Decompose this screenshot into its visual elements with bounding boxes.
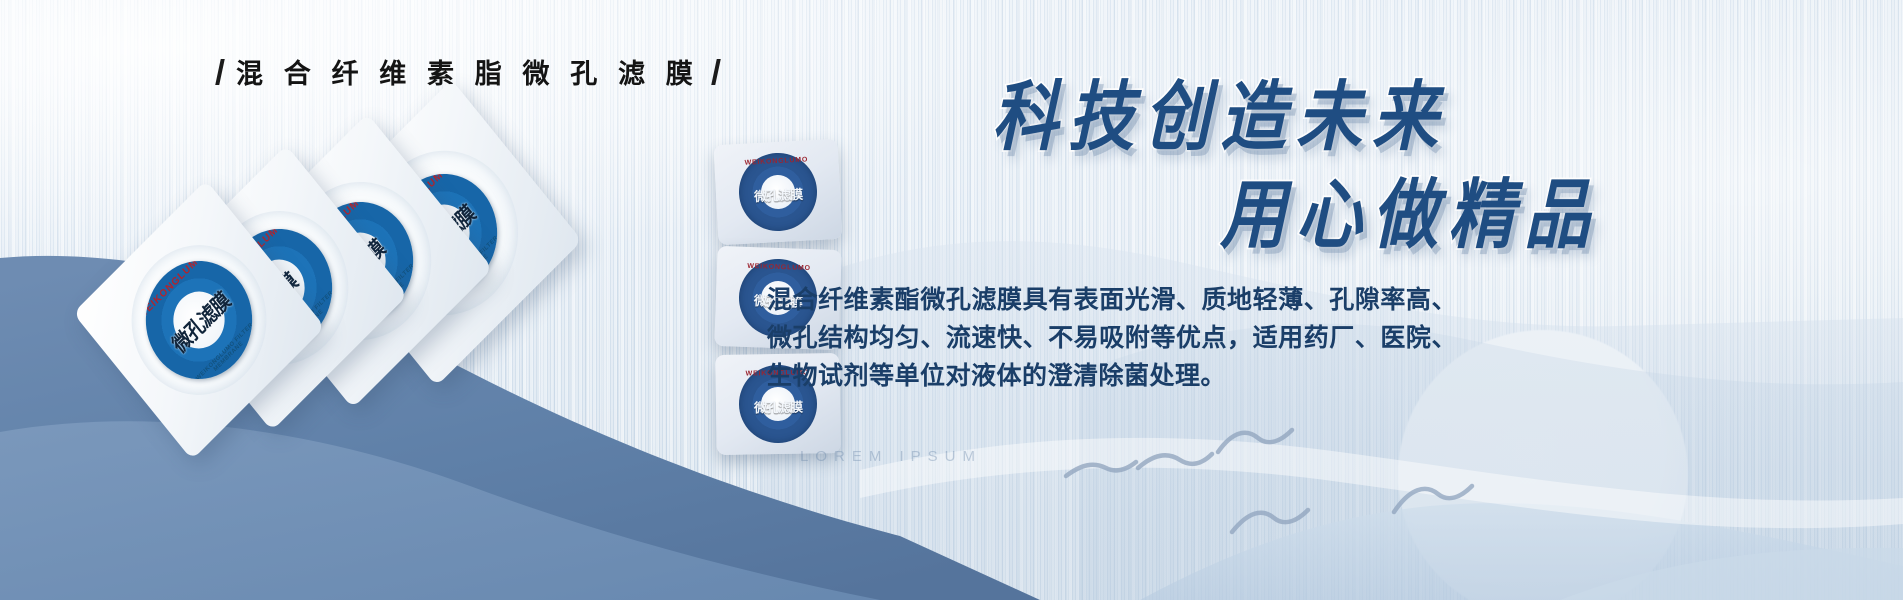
headline-block: 科技创造未来 用心做精品	[992, 86, 1448, 250]
headline-line-1: 科技创造未来	[992, 81, 1448, 157]
product-label: WEIKONGLUMO 微孔滤膜 WEIKONGLUMO FILTER MEMB…	[124, 237, 274, 404]
headline-line-2: 用心做精品	[992, 179, 1600, 255]
birds-decoration	[1060, 380, 1480, 560]
chip-label-cn: 微孔滤膜	[739, 183, 818, 206]
watermark-text: LOREM IPSUM	[800, 448, 982, 465]
body-paragraph: 混合纤维素酯微孔滤膜具有表面光滑、质地轻薄、孔隙率高、微孔结构均匀、流速快、不易…	[767, 282, 1457, 396]
chip-label-cn: 微孔滤膜	[739, 396, 817, 416]
chip-label-en: WEIKONGLUMO	[737, 156, 815, 167]
kicker-text: 混 合 纤 维 素 脂 微 孔 滤 膜	[236, 52, 700, 91]
chip-label-en: WEIKONGLUMO	[740, 263, 818, 273]
body-copy-block: 混合纤维素酯微孔滤膜具有表面光滑、质地轻薄、孔隙率高、微孔结构均匀、流速快、不易…	[767, 282, 1457, 396]
kicker-heading: 混 合 纤 维 素 脂 微 孔 滤 膜	[218, 52, 718, 91]
product-chip: WEIKONGLUMO 微孔滤膜	[713, 139, 842, 245]
chip-label-disc: WEIKONGLUMO 微孔滤膜	[737, 151, 819, 233]
promo-banner: 混 合 纤 维 素 脂 微 孔 滤 膜 WEIKONGLUMO 微孔滤膜 WEI…	[0, 0, 1903, 600]
product-pack-cluster: WEIKONGLUMO 微孔滤膜 WEIKONGLUMO FILTER MEMB…	[105, 130, 565, 440]
